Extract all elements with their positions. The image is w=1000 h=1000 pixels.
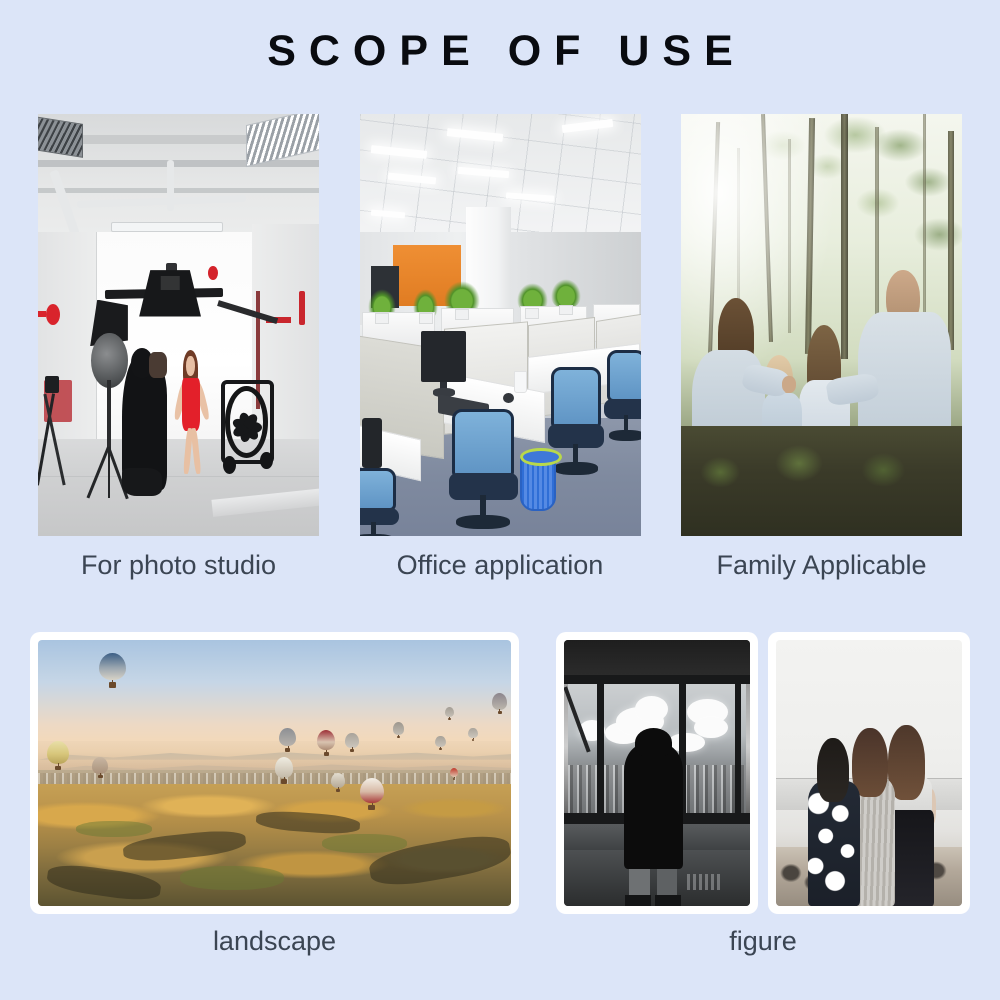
figure-shoe [625,895,651,906]
tree-trunk [923,114,927,317]
figure-window-image [564,640,750,906]
office-chair [607,350,641,443]
plant-pot [419,313,433,324]
ceiling-beam [38,160,319,167]
panel-figure-window [556,632,758,914]
fan-cart-wheel [223,456,236,474]
panel-landscape [30,632,519,914]
office-chair [360,468,397,536]
hot-air-balloon [360,778,385,810]
window-mullion [735,675,741,819]
family-forest-image [681,114,962,536]
forest-ground-ivy [681,426,962,536]
fan-cart-wheel [260,452,273,470]
ceiling-pipe [167,160,174,211]
plant-pot [455,309,469,320]
caption-family-applicable: Family Applicable [716,550,926,580]
page-header: SCOPE OF USE [0,26,1000,76]
hot-air-balloon [345,733,358,752]
bottom-photo-row [30,632,970,914]
office-image [360,114,641,536]
plant-pot [559,305,573,316]
panel-figure-girls [768,632,970,914]
green-vegetation [322,834,407,853]
hot-air-balloon [468,728,477,741]
model-face [186,356,195,375]
left-girl-hair [817,738,849,802]
panel-photo-studio [38,114,319,536]
potted-plant [551,279,582,309]
caption-figure: figure [729,926,797,956]
green-vegetation [76,821,152,837]
tree-trunk [875,127,879,338]
caption-photo-studio: For photo studio [81,550,276,580]
photographer-legs [122,468,161,495]
studio-floor [38,439,319,536]
middle-girl-hair [852,728,887,797]
figure-girls-image [776,640,962,906]
plant-pot [375,313,389,324]
hand [782,376,796,393]
window-mullion [564,675,750,685]
landscape-balloons-image [38,640,511,906]
hot-air-balloon [99,653,125,688]
hot-air-balloon [47,741,69,770]
photo-studio-image [38,114,319,536]
office-chair [452,409,514,531]
photographer-camera [149,352,167,377]
ceiling-beam [38,188,319,193]
figure-shoe [655,895,681,906]
hot-air-balloon [393,722,404,738]
hot-air-balloon [492,693,507,714]
top-caption-row: For photo studio Office application Fami… [38,548,962,590]
cloud [694,717,727,738]
page-title: SCOPE OF USE [0,26,1000,76]
hot-air-balloon [435,736,445,751]
caption-slot-landscape: landscape [30,924,519,958]
mouse [503,393,514,404]
model-red-dress [182,378,200,431]
floor-seam [38,476,319,477]
top-photo-row [38,114,962,536]
hot-air-balloon [317,730,335,755]
green-vegetation [180,866,284,890]
hot-air-balloon [450,768,459,780]
light-stand-pole [107,380,111,452]
caption-slot-office: Office application [360,548,641,590]
hot-air-balloon [331,773,345,792]
hot-air-balloon [92,757,108,778]
panel-family-forest [681,114,962,536]
caption-slot-family: Family Applicable [681,548,962,590]
fluorescent-tube [111,222,223,232]
computer-monitor [421,331,466,382]
tree-trunk [841,114,848,359]
panel-office [360,114,641,536]
window-header-beam [564,640,750,675]
fire-extinguisher [299,291,305,325]
blue-wastebasket [520,452,557,511]
floor-marking [687,874,720,890]
hot-air-balloon [445,707,454,720]
figure-hood [635,728,672,757]
light-stand-leg [108,447,111,498]
caption-office-application: Office application [397,550,604,580]
desk-bag [362,418,382,469]
bottom-caption-row: landscape figure [30,924,970,964]
plant-pot [525,308,539,319]
window-mullion [597,675,603,819]
tripod-head [45,376,59,393]
hot-air-balloon [275,757,294,784]
wind-fan-blades [225,386,269,458]
ceiling-vent-grill [38,117,83,158]
tree-trunk [948,131,954,350]
caption-landscape: landscape [213,926,336,956]
caption-slot-figure: figure [556,924,970,958]
caption-slot-photo-studio: For photo studio [38,548,319,590]
figure-silhouette-body [624,744,684,869]
paper-cup [514,371,527,392]
hot-air-balloon [279,728,296,752]
